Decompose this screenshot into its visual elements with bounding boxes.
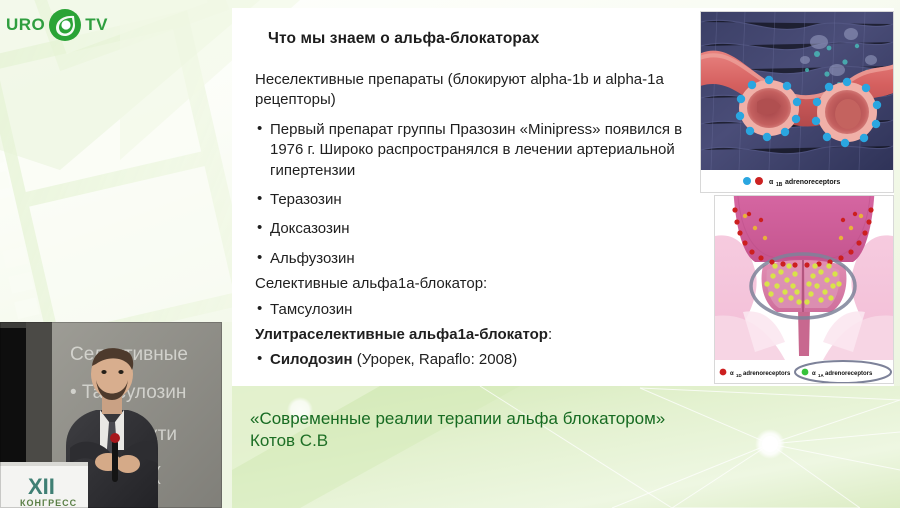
intro-paragraph: Неселективные препараты (блокируют alpha… xyxy=(255,70,703,111)
ultraselective-heading: Улитраселективные альфа1а-блокатор: xyxy=(255,325,703,345)
presentation-caption: «Современные реалии терапии альфа блокат… xyxy=(250,408,870,453)
svg-text:adrenoreceptors: adrenoreceptors xyxy=(785,179,840,186)
bullet-doxazosin: Доксазозин xyxy=(255,219,703,239)
svg-text:КОНГРЕСС: КОНГРЕСС xyxy=(20,498,77,508)
bullet-silodosin: Силодозин (Урорек, Rapaflo: 2008) xyxy=(255,350,703,370)
slide-body: Неселективные препараты (блокируют alpha… xyxy=(255,70,703,380)
bullet-alfuzosin: Альфузозин xyxy=(255,249,703,269)
silodosin-name: Силодозин xyxy=(270,351,353,368)
ultraselective-heading-colon: : xyxy=(548,326,552,343)
figure-blood-vessel-alpha1b: α 1B adrenoreceptors xyxy=(700,11,894,193)
caption-line-title: «Современные реалии терапии альфа блокат… xyxy=(250,408,870,430)
uro-tv-leaf-circle-logo-icon xyxy=(47,7,83,43)
bullet-terazosin: Теразозин xyxy=(255,190,703,210)
presentation-screenshot: URO TV Что мы знаем о альфа-блокаторах Н… xyxy=(0,0,900,508)
selective-heading: Селективные альфа1а-блокатор: xyxy=(255,274,703,294)
uro-tv-logo[interactable]: URO TV xyxy=(6,4,124,46)
svg-text:1A: 1A xyxy=(818,373,824,378)
logo-suffix-text: TV xyxy=(85,15,108,35)
svg-text:α: α xyxy=(730,371,734,377)
bullet-tamsulosin: Тамсулозин xyxy=(255,300,703,320)
caption-line-speaker: Котов С.В xyxy=(250,430,870,452)
logo-prefix-text: URO xyxy=(6,15,45,35)
svg-text:adrenoreceptors: adrenoreceptors xyxy=(825,371,873,377)
presentation-caption-band: «Современные реалии терапии альфа блокат… xyxy=(232,386,900,508)
figure-bladder-prostate-receptors: α 1D adrenoreceptors α 1A adrenoreceptor… xyxy=(714,195,894,384)
bullet-prazosin: Первый препарат группы Празозин «Minipre… xyxy=(255,120,703,181)
svg-text:α: α xyxy=(769,179,774,186)
speaker-presentation-video[interactable]: Селективные • Тамсулозин селекти дозин ( xyxy=(0,322,222,508)
svg-text:adrenoreceptors: adrenoreceptors xyxy=(743,371,791,377)
svg-text:XII: XII xyxy=(28,474,55,499)
svg-text:1B: 1B xyxy=(776,182,783,188)
ultraselective-heading-text: Улитраселективные альфа1а-блокатор xyxy=(255,326,548,343)
slide-title: Что мы знаем о альфа-блокаторах xyxy=(268,30,708,48)
silodosin-brands: (Урорек, Rapaflo: 2008) xyxy=(353,351,518,368)
svg-text:α: α xyxy=(812,371,816,377)
svg-text:1D: 1D xyxy=(736,373,742,378)
